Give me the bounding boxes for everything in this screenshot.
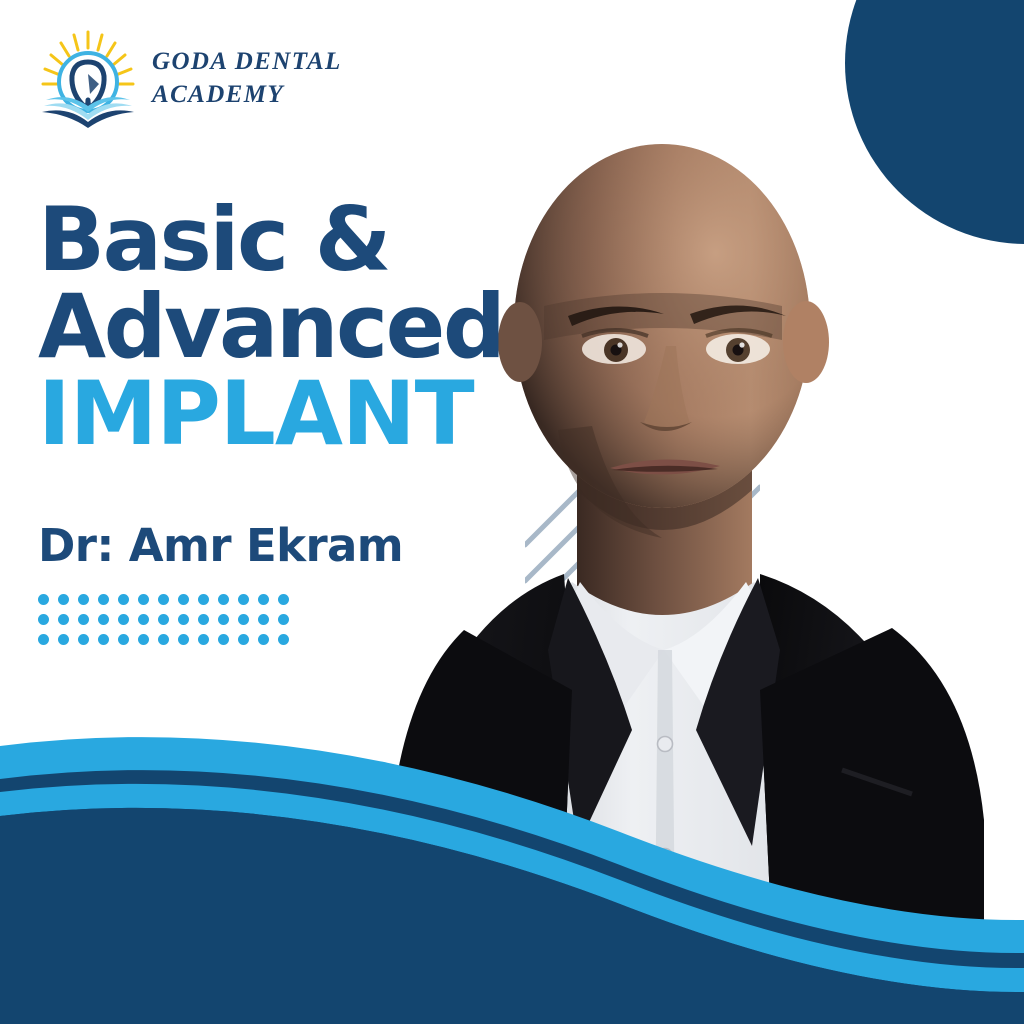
dot: [138, 634, 149, 645]
dot: [238, 594, 249, 605]
dot: [78, 594, 89, 605]
headline-line-3: IMPLANT: [38, 370, 598, 457]
dot: [178, 594, 189, 605]
dot: [78, 634, 89, 645]
headline-line-2: Advanced: [38, 283, 598, 370]
dot: [258, 614, 269, 625]
dot: [118, 594, 129, 605]
dot: [198, 614, 209, 625]
dot: [58, 594, 69, 605]
dot: [158, 614, 169, 625]
dot: [138, 614, 149, 625]
brand-logo: GODA DENTAL ACADEMY: [36, 26, 336, 130]
brand-name-line1: GODA DENTAL: [152, 45, 342, 78]
dot: [158, 594, 169, 605]
dot: [38, 634, 49, 645]
dot: [178, 614, 189, 625]
dot: [178, 634, 189, 645]
dot: [158, 634, 169, 645]
dot: [118, 634, 129, 645]
dot: [278, 614, 289, 625]
dot: [38, 614, 49, 625]
dot-grid-decoration: [38, 594, 298, 654]
headline-block: Basic & Advanced IMPLANT Dr: Amr Ekram: [38, 196, 598, 654]
dot: [98, 634, 109, 645]
dot: [218, 614, 229, 625]
dot: [198, 634, 209, 645]
dot: [198, 594, 209, 605]
dot: [58, 634, 69, 645]
dot: [238, 614, 249, 625]
brand-wordmark: GODA DENTAL ACADEMY: [152, 45, 342, 111]
dot: [98, 594, 109, 605]
dot: [218, 634, 229, 645]
dot: [58, 614, 69, 625]
sunburst-tooth-book-icon: [36, 26, 140, 130]
dot: [258, 634, 269, 645]
bottom-wave-decoration: [0, 724, 1024, 1024]
dot: [218, 594, 229, 605]
poster-canvas: GODA DENTAL ACADEMY Basic & Advanced IMP…: [0, 0, 1024, 1024]
dot: [278, 634, 289, 645]
dot: [118, 614, 129, 625]
dot: [78, 614, 89, 625]
dot: [98, 614, 109, 625]
brand-name-line2: ACADEMY: [152, 78, 342, 111]
dot: [38, 594, 49, 605]
headline-line-1: Basic &: [38, 196, 598, 283]
presenter-name: Dr: Amr Ekram: [38, 519, 598, 572]
dot: [278, 594, 289, 605]
dot: [238, 634, 249, 645]
dot: [258, 594, 269, 605]
dot: [138, 594, 149, 605]
